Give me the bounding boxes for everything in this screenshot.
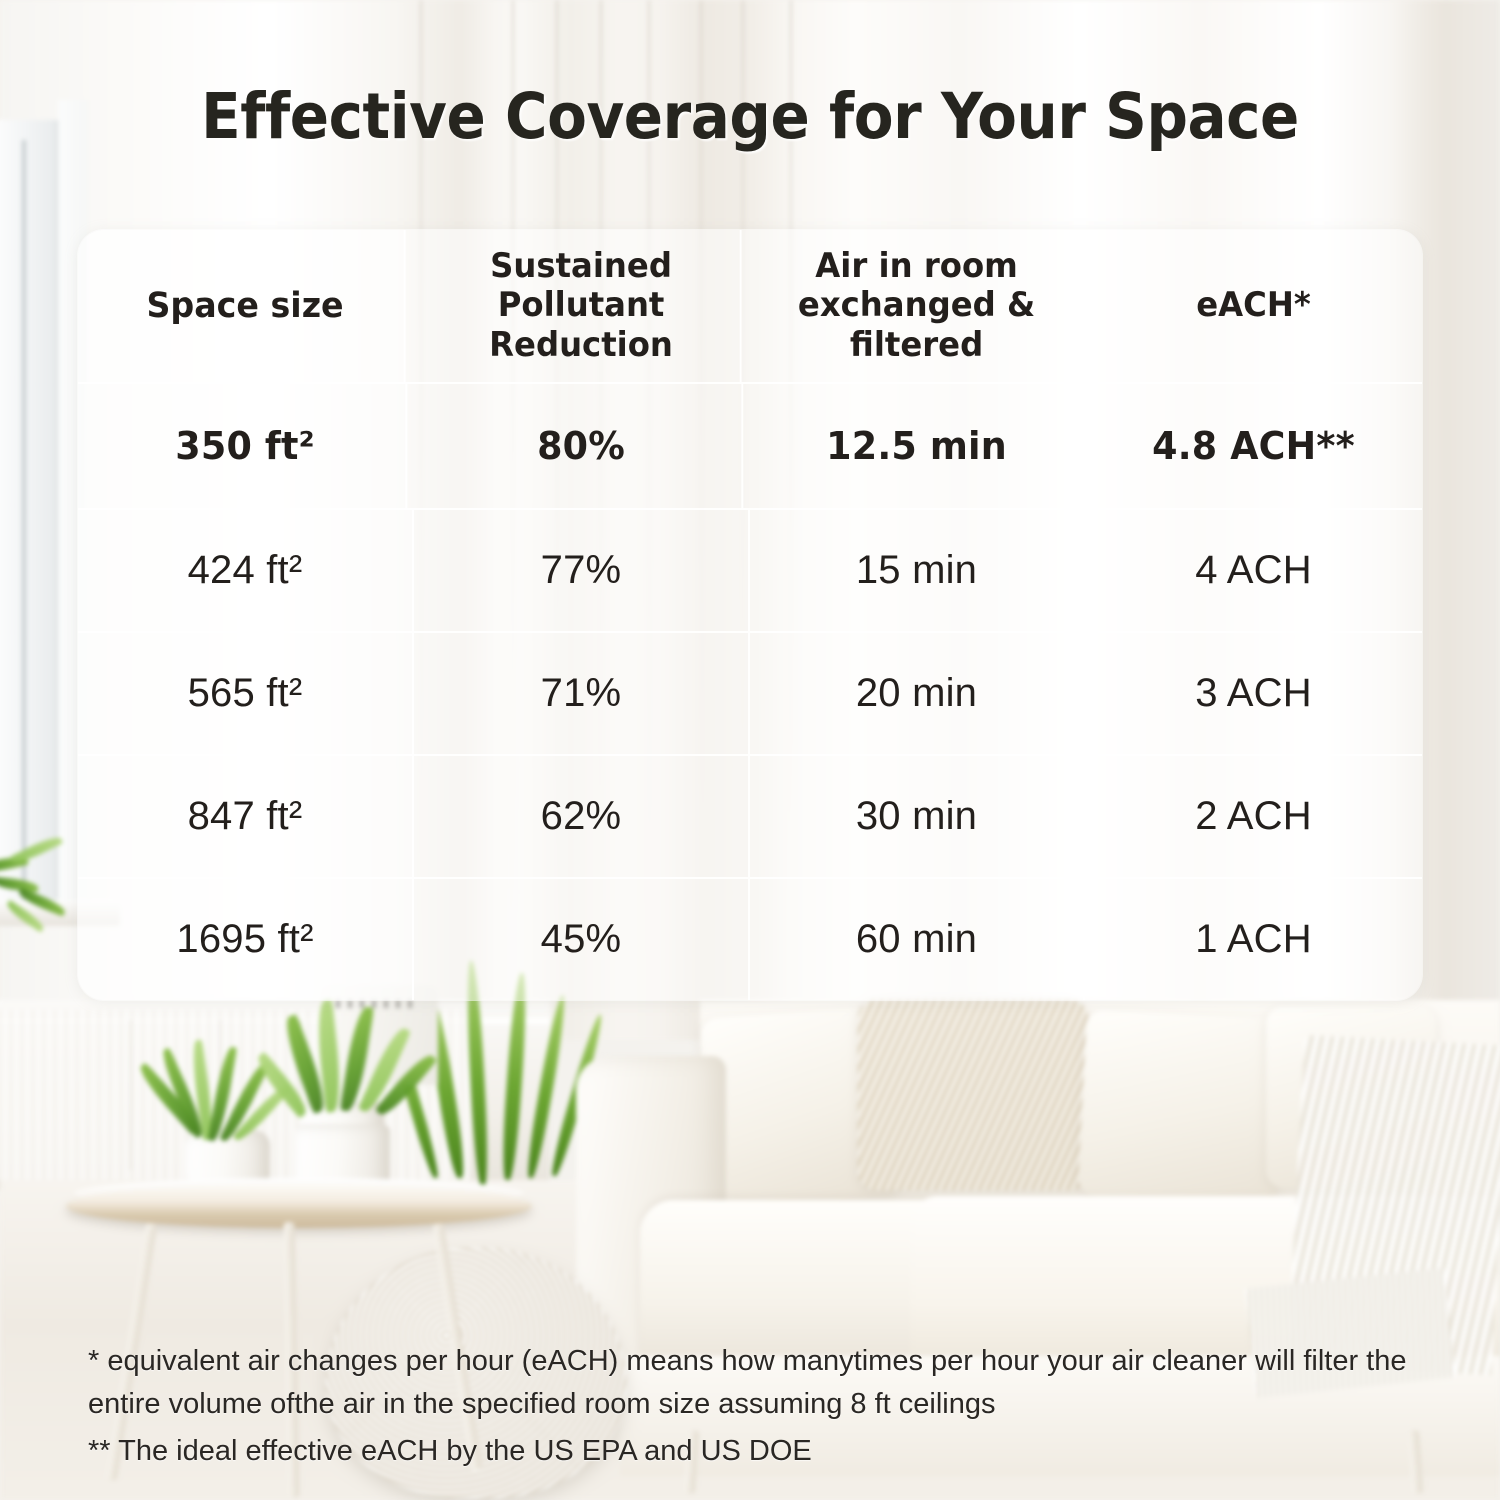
cell-value: 4.8 ACH** [1152,424,1355,468]
header-line: Sustained [490,246,672,286]
cell-exchange-time: 60 min [750,879,1085,1000]
cell-exchange-time: 20 min [750,633,1085,754]
coverage-table: Space size Sustained Pollutant Reduction… [78,230,1422,1000]
wainscot-line [130,1020,131,1170]
cell-value: 62% [541,794,622,839]
footnote-each-definition-line2: entire volume ofthe air in the specified… [88,1383,1428,1426]
cell-value: 71% [541,671,622,716]
cell-each: 2 ACH [1085,756,1422,877]
sofa-pillow [1077,1009,1286,1205]
table-row: 565 ft² 71% 20 min 3 ACH [78,633,1422,756]
cell-reduction: 80% [421,384,744,507]
cell-value: 77% [541,548,622,593]
cell-value: 45% [541,917,622,962]
header-line: Air in room [815,246,1018,286]
header-label: eACH* [1196,286,1311,326]
header-line: Reduction [489,325,673,365]
cell-space-size: 847 ft² [78,756,414,877]
header-label: Air in room exchanged & filtered [798,247,1035,366]
cell-value: 80% [537,424,625,468]
cell-value: 1 ACH [1195,917,1312,962]
footnote-epa-doe: ** The ideal effective eACH by the US EP… [88,1430,1428,1473]
header-line: Pollutant [498,285,665,325]
cell-each: 1 ACH [1085,879,1422,1000]
cell-each: 4.8 ACH** [1092,384,1416,507]
cell-value: 1695 ft² [176,917,313,962]
cell-space-size: 1695 ft² [78,879,414,1000]
footnote-each-definition-line1: * equivalent air changes per hour (eACH)… [88,1340,1428,1383]
sofa-knit-pillow [858,1000,1088,1190]
cell-reduction: 71% [414,633,750,754]
cell-value: 20 min [856,671,977,716]
page-title: Effective Coverage for Your Space [60,80,1440,153]
cell-value: 60 min [856,917,977,962]
cell-value: 4 ACH [1195,548,1312,593]
cell-exchange-time: 15 min [750,510,1085,631]
cell-each: 4 ACH [1085,510,1422,631]
side-table-edge [66,1184,532,1228]
table-row: 424 ft² 77% 15 min 4 ACH [78,510,1422,633]
air-purifier-vent [336,1000,418,1008]
cell-value: 847 ft² [188,794,303,839]
header-label: Space size [146,286,343,327]
window-frame [0,120,58,900]
cell-exchange-time: 12.5 min [757,384,1079,507]
cell-value: 350 ft² [175,424,314,468]
column-header-space-size: Space size [86,230,405,382]
product-lifestyle-scene: Effective Coverage for Your Space Space … [0,0,1500,1500]
table-row: 350 ft² 80% 12.5 min 4.8 ACH** [78,384,1422,509]
cell-value: 424 ft² [188,548,303,593]
window-mullion [22,140,26,900]
cell-value: 2 ACH [1195,794,1312,839]
cell-space-size: 565 ft² [78,633,414,754]
cell-value: 3 ACH [1195,671,1312,716]
header-line: exchanged & [798,285,1035,325]
column-header-each: eACH* [1093,230,1413,382]
cell-space-size: 350 ft² [85,384,408,507]
table-header-row: Space size Sustained Pollutant Reduction… [78,230,1422,384]
header-line: filtered [850,325,983,365]
cell-each: 3 ACH [1085,633,1422,754]
table-row: 847 ft² 62% 30 min 2 ACH [78,756,1422,879]
cell-value: 15 min [856,548,977,593]
header-label: Sustained Pollutant Reduction [489,247,673,366]
cell-value: 565 ft² [188,671,303,716]
cell-reduction: 45% [414,879,750,1000]
cell-value: 30 min [856,794,977,839]
cell-exchange-time: 30 min [750,756,1085,877]
cell-space-size: 424 ft² [78,510,414,631]
footnotes: * equivalent air changes per hour (eACH)… [88,1340,1428,1473]
column-header-pollutant-reduction: Sustained Pollutant Reduction [422,230,741,382]
column-header-air-exchanged: Air in room exchanged & filtered [758,230,1076,382]
cell-value: 12.5 min [826,424,1007,468]
cell-reduction: 62% [414,756,750,877]
table-row: 1695 ft² 45% 60 min 1 ACH [78,879,1422,1000]
cell-reduction: 77% [414,510,750,631]
